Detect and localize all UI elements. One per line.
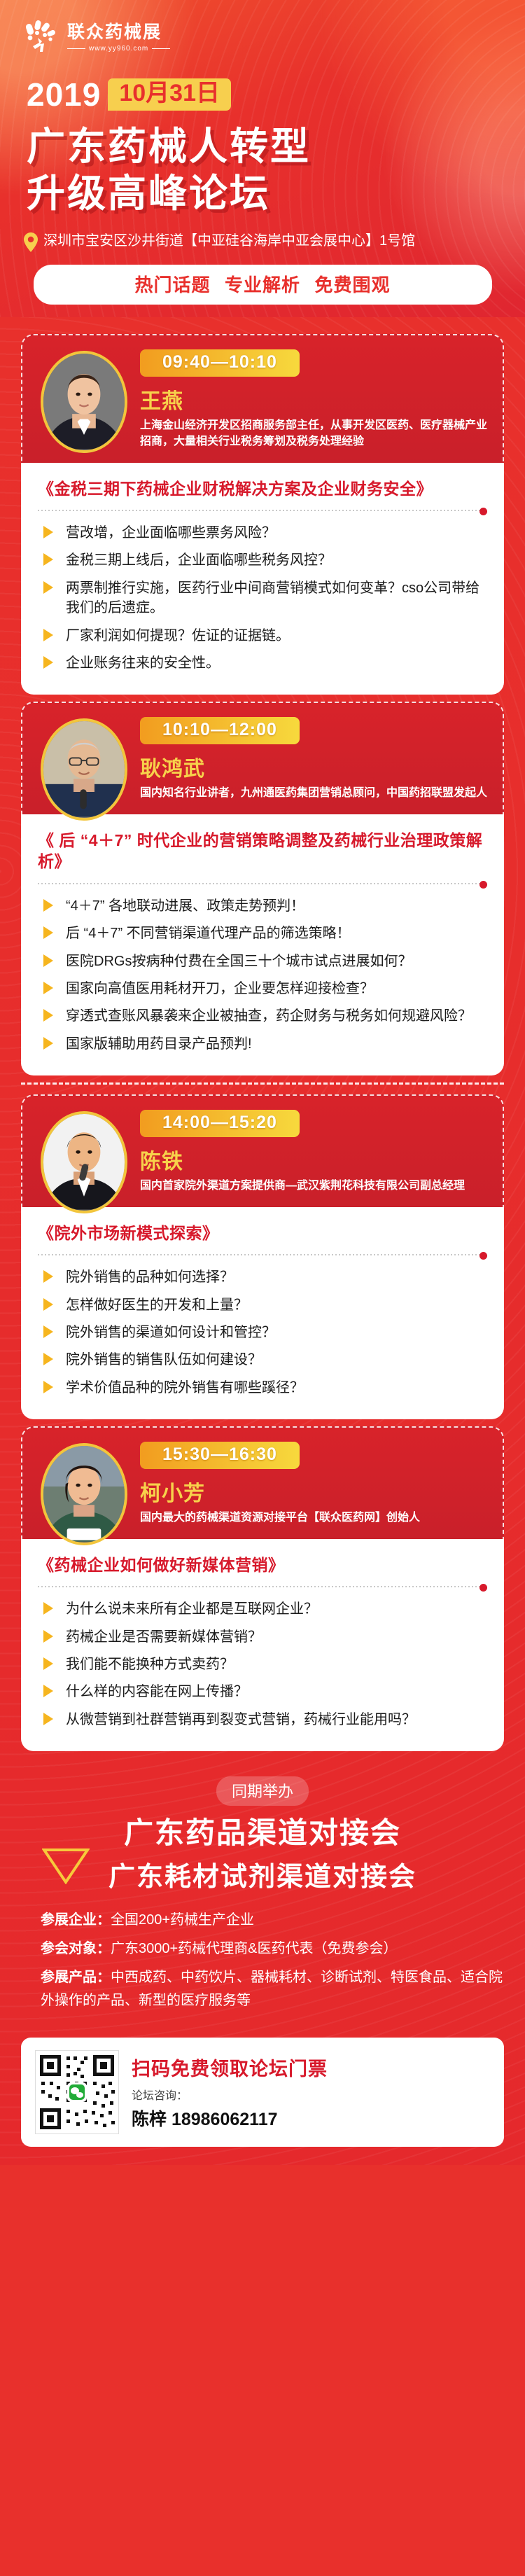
- event-poster: 联众药械展 www.yy960.com 2019 10月31日 广东药械人转型 …: [0, 0, 525, 2165]
- info-row: 参展企业：全国200+药械生产企业: [41, 1909, 504, 1931]
- speaker-name: 耿鸿武: [140, 751, 489, 782]
- list-item: 穿透式查账风暴袭来企业被抽查，药企财务与税务如何规避风险？: [38, 1006, 487, 1026]
- footer-spacer: [0, 2147, 525, 2165]
- arrow-icon: [43, 526, 53, 538]
- session-topic: 《 后 “4＋7” 时代企业的营销策略调整及药械行业治理政策解析》: [38, 830, 487, 872]
- ticket-cta-title: 扫码免费领取论坛门票: [132, 2054, 490, 2081]
- list-item: 学术价值品种的院外销售有哪些蹊径？: [38, 1378, 487, 1398]
- arrow-icon: [43, 899, 53, 912]
- list-item: 国家版辅助用药目录产品预判!: [38, 1034, 487, 1054]
- arrow-icon: [43, 656, 53, 669]
- speaker-avatar: [41, 1111, 127, 1213]
- arrow-icon: [43, 1009, 53, 1022]
- session-body: 《院外市场新模式探索》 院外销售的品种如何选择？ 怎样做好医生的开发和上量？ 院…: [21, 1207, 504, 1419]
- event-date-chip: 10月31日: [108, 78, 231, 111]
- arrow-icon: [43, 553, 53, 566]
- hero-section: 联众药械展 www.yy960.com 2019 10月31日 广东药械人转型 …: [0, 0, 525, 317]
- arrow-icon: [43, 1353, 53, 1365]
- ticket-footer: 扫码免费领取论坛门票 论坛咨询： 陈梓 18986062117: [21, 2038, 504, 2147]
- arrow-icon: [43, 1713, 53, 1725]
- info-label: 参会对象：: [41, 1941, 111, 1956]
- arrow-icon: [43, 1602, 53, 1615]
- venue-address: 深圳市宝安区沙井街道【中亚硅谷海岸中亚会展中心】1号馆: [0, 217, 525, 252]
- list-item: 院外销售的销售队伍如何建设？: [38, 1350, 487, 1370]
- consult-label: 论坛咨询：: [132, 2086, 490, 2103]
- arrow-icon: [43, 629, 53, 641]
- arrow-icon: [43, 1381, 53, 1393]
- arrow-icon: [43, 1685, 53, 1697]
- list-item: 我们能不能换种方式卖药？: [38, 1655, 487, 1674]
- session-points: 院外销售的品种如何选择？ 怎样做好医生的开发和上量？ 院外销售的渠道如何设计和管…: [38, 1267, 487, 1398]
- session-time: 09:40—10:10: [140, 349, 300, 377]
- list-item: 企业账务往来的安全性。: [38, 653, 487, 673]
- list-item: 院外销售的渠道如何设计和管控？: [38, 1323, 487, 1342]
- session-time: 10:10—12:00: [140, 717, 300, 744]
- pill-tree-logo-icon: [21, 18, 60, 57]
- arrow-icon: [43, 954, 53, 967]
- qr-code-icon[interactable]: [35, 2050, 119, 2134]
- list-item: 后 “4＋7” 不同营销渠道代理产品的筛选策略！: [38, 924, 487, 943]
- brand-name: 联众药械展: [67, 23, 170, 43]
- event-year: 2019: [27, 76, 101, 113]
- list-item: 什么样的内容能在网上传播？: [38, 1682, 487, 1701]
- divider: [38, 1584, 487, 1589]
- tag-1: 专业解析: [225, 274, 300, 295]
- list-item: 国家向高值医用耗材开刀，企业要怎样迎接检查？: [38, 979, 487, 998]
- session-header: 15:30—16:30 柯小芳 国内最大的药械渠道资源对接平台【联众医药网】创始…: [21, 1426, 504, 1539]
- session-topic: 《金税三期下药械企业财税解决方案及企业财务安全》: [38, 478, 487, 499]
- info-label: 参展企业：: [41, 1912, 111, 1928]
- list-item: 两票制推行实施，医药行业中间商营销模式如何变革？cso公司带给我们的后遗症。: [38, 578, 487, 618]
- agenda-section: 09:40—10:10 王燕 上海金山经济开发区招商服务部主任，从事开发区医药、…: [0, 317, 525, 2165]
- session-body: 《 后 “4＋7” 时代企业的营销策略调整及药械行业治理政策解析》 “4＋7” …: [21, 814, 504, 1075]
- session-points: 营改增，企业面临哪些票务风险？ 金税三期上线后，企业面临哪些税务风控？ 两票制推…: [38, 523, 487, 673]
- arrow-icon: [43, 1630, 53, 1643]
- tag-2: 免费围观: [314, 274, 390, 295]
- list-item: 厂家利润如何提现？佐证的证据链。: [38, 626, 487, 646]
- list-item: “4＋7” 各地联动进展、政策走势预判！: [38, 896, 487, 916]
- session-body: 《药械企业如何做好新媒体营销》 为什么说未来所有企业都是互联网企业？ 药械企业是…: [21, 1539, 504, 1751]
- speaker-avatar: [41, 1443, 127, 1545]
- info-row: 参会对象：广东3000+药械代理商&医药代表（免费参会）: [41, 1937, 504, 1960]
- session-body: 《金税三期下药械企业财税解决方案及企业财务安全》 营改增，企业面临哪些票务风险？…: [21, 463, 504, 695]
- session-card: 15:30—16:30 柯小芳 国内最大的药械渠道资源对接平台【联众医药网】创始…: [21, 1426, 504, 1751]
- list-item: 怎样做好医生的开发和上量？: [38, 1295, 487, 1315]
- speaker-name: 柯小芳: [140, 1476, 489, 1507]
- list-item: 为什么说未来所有企业都是互联网企业？: [38, 1599, 487, 1619]
- title-line-2: 升级高峰论坛: [27, 170, 525, 217]
- speaker-bio: 上海金山经济开发区招商服务部主任，从事开发区医药、医疗器械产业招商，大量相关行业…: [140, 418, 489, 450]
- info-value: 全国200+药械生产企业: [111, 1912, 254, 1928]
- divider: [38, 881, 487, 886]
- speaker-name: 王燕: [140, 384, 489, 415]
- highlight-tags: 热门话题 专业解析 免费围观: [34, 265, 492, 305]
- list-item: 从微营销到社群营销再到裂变式营销，药械行业能用吗？: [38, 1710, 487, 1729]
- event-date-row: 2019 10月31日: [0, 76, 525, 113]
- session-card: 14:00—15:20 陈铁 国内首家院外渠道方案提供商—武汉紫荆花科技有限公司…: [21, 1094, 504, 1419]
- session-card: 10:10—12:00 耿鸿武 国内知名行业讲者，九州通医药集团营销总顾问，中国…: [21, 702, 504, 1075]
- down-triangle-icon: [18, 1813, 66, 1848]
- tag-0: 热门话题: [135, 274, 211, 295]
- title-line-1: 广东药械人转型: [27, 123, 525, 170]
- speaker-name: 陈铁: [140, 1144, 489, 1175]
- speaker-bio: 国内知名行业讲者，九州通医药集团营销总顾问，中国药招联盟发起人: [140, 786, 489, 802]
- session-points: 为什么说未来所有企业都是互联网企业？ 药械企业是否需要新媒体营销？ 我们能不能换…: [38, 1599, 487, 1729]
- list-item: 金税三期上线后，企业面临哪些税务风控？: [38, 550, 487, 570]
- arrow-icon: [43, 1270, 53, 1283]
- arrow-icon: [43, 982, 53, 994]
- brand-logo: 联众药械展 www.yy960.com: [0, 18, 525, 57]
- contact-info: 陈梓 18986062117: [132, 2105, 490, 2131]
- divider: [38, 508, 487, 513]
- info-label: 参展产品：: [41, 1970, 111, 1985]
- venue-address-text: 深圳市宝安区沙井街道【中亚硅谷海岸中亚会展中心】1号馆: [43, 231, 415, 251]
- session-card: 09:40—10:10 王燕 上海金山经济开发区招商服务部主任，从事开发区医药、…: [21, 334, 504, 695]
- brand-url-text: www.yy960.com: [89, 45, 148, 53]
- list-item: 医院DRGs按病种付费在全国三十个城市试点进展如何？: [38, 952, 487, 971]
- section-divider: [21, 1082, 504, 1085]
- list-item: 药械企业是否需要新媒体营销？: [38, 1627, 487, 1647]
- info-row: 参展产品：中西成药、中药饮片、器械耗材、诊断试剂、特医食品、适合院外操作的产品、…: [41, 1966, 504, 2012]
- speaker-avatar: [41, 718, 127, 821]
- concurrent-info-list: 参展企业：全国200+药械生产企业 参会对象：广东3000+药械代理商&医药代表…: [0, 1895, 525, 2012]
- arrow-icon: [43, 926, 53, 939]
- session-topic: 《院外市场新模式探索》: [38, 1223, 487, 1244]
- speaker-avatar: [41, 351, 127, 453]
- session-time: 14:00—15:20: [140, 1110, 300, 1137]
- arrow-icon: [43, 1325, 53, 1338]
- session-header: 14:00—15:20 陈铁 国内首家院外渠道方案提供商—武汉紫荆花科技有限公司…: [21, 1094, 504, 1207]
- concurrent-title-1: 广东药品渠道对接会: [0, 1814, 525, 1852]
- session-topic: 《药械企业如何做好新媒体营销》: [38, 1554, 487, 1575]
- list-item: 营改增，企业面临哪些票务风险？: [38, 523, 487, 543]
- session-time: 15:30—16:30: [140, 1442, 300, 1469]
- divider: [38, 1252, 487, 1258]
- session-points: “4＋7” 各地联动进展、政策走势预判！ 后 “4＋7” 不同营销渠道代理产品的…: [38, 896, 487, 1054]
- arrow-icon: [43, 1037, 53, 1050]
- session-header: 09:40—10:10 王燕 上海金山经济开发区招商服务部主任，从事开发区医药、…: [21, 334, 504, 462]
- speaker-bio: 国内最大的药械渠道资源对接平台【联众医药网】创始人: [140, 1510, 489, 1526]
- info-value: 广东3000+药械代理商&医药代表（免费参会）: [111, 1941, 398, 1956]
- arrow-icon: [43, 1657, 53, 1670]
- session-header: 10:10—12:00 耿鸿武 国内知名行业讲者，九州通医药集团营销总顾问，中国…: [21, 702, 504, 814]
- page-title: 广东药械人转型 升级高峰论坛: [0, 123, 525, 217]
- map-pin-icon: [24, 232, 38, 252]
- arrow-icon: [43, 1298, 53, 1311]
- speaker-bio: 国内首家院外渠道方案提供商—武汉紫荆花科技有限公司副总经理: [140, 1178, 489, 1195]
- concurrent-badge: 同期举办: [216, 1776, 309, 1806]
- concurrent-event-section: 同期举办 广东药品渠道对接会 广东耗材试剂渠道对接会 参展企业：全国200+药械…: [0, 1758, 525, 2025]
- arrow-icon: [43, 581, 53, 594]
- list-item: 院外销售的品种如何选择？: [38, 1267, 487, 1287]
- brand-url: www.yy960.com: [67, 45, 170, 53]
